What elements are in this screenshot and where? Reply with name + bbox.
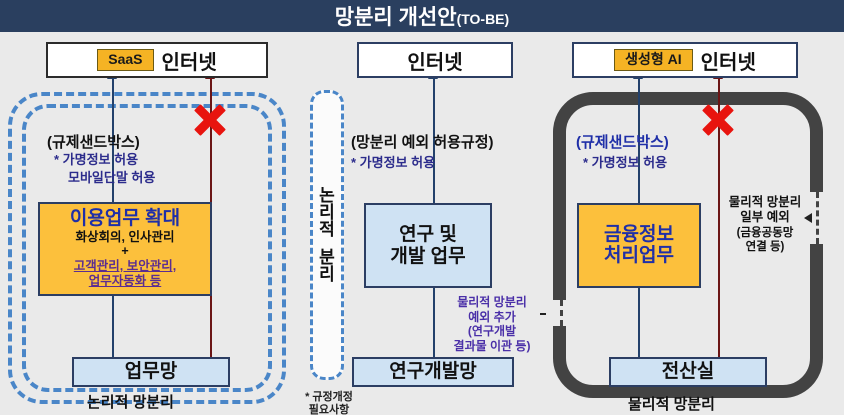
middle-network-box: 연구개발망 <box>352 357 514 387</box>
right-network-box: 전산실 <box>609 357 767 387</box>
right-regulation-note: (규제샌드박스) <box>576 131 669 152</box>
left-allowance-2: 모바일단말 허용 <box>68 170 155 186</box>
right-allowance-1: * 가명정보 허용 <box>583 152 667 171</box>
left-network-box: 업무망 <box>72 357 230 387</box>
right-blue-connector-lower <box>638 288 640 358</box>
right-internet-label: 인터넷 <box>701 46 756 75</box>
page-title-suffix: (TO-BE) <box>457 11 510 27</box>
left-work-underlined-1: 고객관리, 보안관리, <box>74 259 176 274</box>
middle-work-box: 연구 및 개발 업무 <box>364 203 492 288</box>
right-work-line-1: 금융정보 <box>604 225 674 246</box>
left-work-title: 이용업무 확대 <box>70 209 180 230</box>
title-bar: 망분리 개선안 (TO-BE) <box>0 0 844 32</box>
right-network-label: 전산실 <box>662 361 714 383</box>
middle-work-line-1: 연구 및 <box>390 224 465 246</box>
right-work-line-2: 처리업무 <box>604 246 674 267</box>
diagram-canvas: 망분리 개선안 (TO-BE) SaaS 인터넷 (규제샌드박스) * 가명정보… <box>0 0 844 415</box>
middle-exception-line-2: 예외 추가 <box>438 310 546 325</box>
divider-char-1: 논 <box>319 187 335 204</box>
middle-connector-lower <box>433 288 435 357</box>
middle-exception-line-1: 물리적 망분리 <box>438 295 546 310</box>
physical-boundary-gap-left-dashes <box>560 300 563 326</box>
left-work-sub: 화상회의, 인사관리 <box>76 230 175 245</box>
middle-work-text: 연구 및 개발 업무 <box>390 224 465 268</box>
left-regulation-note: (규제샌드박스) <box>47 131 140 152</box>
middle-regulation-note: (망분리 예외 허용규정) <box>351 131 494 152</box>
right-separation-label: 물리적 망분리 <box>628 393 715 414</box>
right-internet-box: 생성형 AI 인터넷 <box>572 42 798 78</box>
divider-char-5: 리 <box>319 266 335 283</box>
right-exception-line-1: 물리적 망분리 <box>718 195 812 210</box>
middle-allowance-1: * 가명정보 허용 <box>351 152 435 171</box>
divider-char-4: 분 <box>319 249 335 266</box>
generative-ai-badge: 생성형 AI <box>614 49 693 70</box>
left-blocked-x-icon <box>193 103 227 137</box>
physical-boundary-gap-right-dashes <box>816 192 819 244</box>
left-work-underlined-2: 업무자동화 등 <box>89 274 161 289</box>
left-work-expansion-box: 이용업무 확대 화상회의, 인사관리 + 고객관리, 보안관리, 업무자동화 등 <box>38 202 212 296</box>
divider-char-2: 리 <box>319 204 335 221</box>
divider-char-3: 적 <box>319 221 335 238</box>
middle-network-label: 연구개발망 <box>389 361 476 383</box>
left-separation-label: 논리적 망분리 <box>87 391 174 412</box>
middle-exception-line-4: 결과물 이관 등) <box>438 339 546 354</box>
middle-work-line-2: 개발 업무 <box>390 246 465 268</box>
left-network-label: 업무망 <box>125 361 177 383</box>
left-allowance-1: * 가명정보 허용 <box>54 152 138 168</box>
left-blue-connector-lower <box>112 296 114 358</box>
title-bar-inner: 망분리 개선안 (TO-BE) <box>335 1 509 31</box>
middle-exception-line-3: (연구개발 <box>438 324 546 339</box>
right-work-box: 금융정보 처리업무 <box>577 203 701 288</box>
page-title: 망분리 개선안 <box>335 1 457 31</box>
saas-badge: SaaS <box>97 49 153 70</box>
middle-exception-note: 물리적 망분리 예외 추가 (연구개발 결과물 이관 등) <box>438 295 546 354</box>
logical-divider: 논 리 적 분 리 <box>310 90 344 380</box>
right-exception-line-4: 연결 등) <box>718 240 812 254</box>
middle-internet-label: 인터넷 <box>407 46 462 75</box>
divider-footnote-2: 필요사항 <box>294 401 364 415</box>
left-internet-box: SaaS 인터넷 <box>46 42 268 78</box>
right-exception-line-3: (금융공동망 <box>718 226 812 240</box>
left-work-plus: + <box>121 245 128 259</box>
right-blocked-x-icon <box>701 103 735 137</box>
left-internet-label: 인터넷 <box>162 46 217 75</box>
right-exception-note: 물리적 망분리 일부 예외 (금융공동망 연결 등) <box>718 195 812 254</box>
middle-internet-box: 인터넷 <box>357 42 513 78</box>
right-exception-line-2: 일부 예외 <box>718 210 812 225</box>
